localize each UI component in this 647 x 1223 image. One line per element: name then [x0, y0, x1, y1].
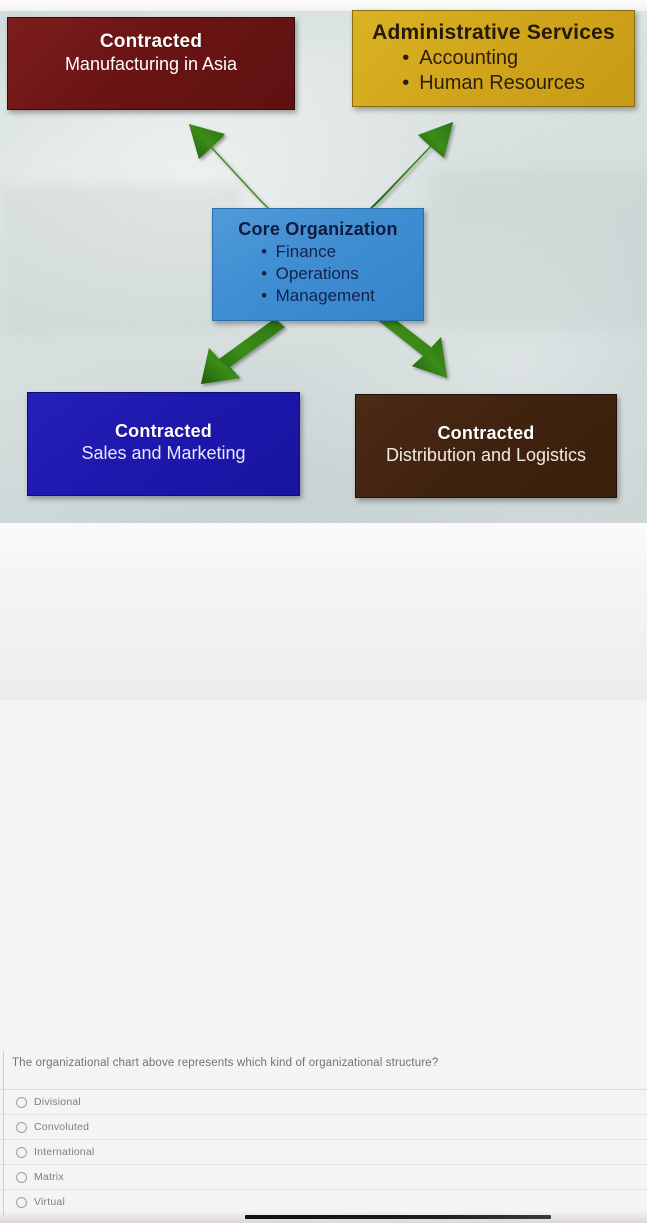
radio-icon[interactable] — [16, 1147, 27, 1158]
question-area: The organizational chart above represent… — [0, 523, 647, 700]
node-subtitle: Manufacturing in Asia — [8, 53, 294, 76]
node-subtitle: Sales and Marketing — [28, 442, 299, 465]
radio-icon[interactable] — [16, 1122, 27, 1133]
node-contracted-manufacturing: Contracted Manufacturing in Asia — [7, 17, 295, 110]
answer-option-label: Matrix — [34, 1171, 64, 1183]
node-subtitle: Distribution and Logistics — [356, 444, 616, 467]
page-root: Contracted Manufacturing in Asia Adminis… — [0, 0, 647, 700]
node-contracted-sales-marketing: Contracted Sales and Marketing — [27, 392, 300, 496]
node-core-organization: Core Organization Finance Operations Man… — [212, 208, 424, 321]
node-contracted-distribution-logistics: Contracted Distribution and Logistics — [355, 394, 617, 498]
arrow-core-to-sales — [201, 316, 285, 384]
node-title: Administrative Services — [353, 20, 634, 46]
node-bullet-list: Accounting Human Resources — [402, 46, 585, 96]
answer-option-divisional[interactable]: Divisional — [0, 1089, 647, 1114]
answer-option-international[interactable]: International — [0, 1139, 647, 1164]
node-title: Core Organization — [213, 218, 423, 241]
node-bullet-list: Finance Operations Management — [261, 241, 375, 307]
bullet-item: Management — [261, 285, 375, 307]
answer-option-label: Divisional — [34, 1096, 81, 1108]
answer-option-label: Virtual — [34, 1196, 65, 1208]
node-title: Contracted — [8, 31, 294, 53]
org-chart-photo: Contracted Manufacturing in Asia Adminis… — [0, 0, 647, 523]
bullet-item: Finance — [261, 241, 375, 263]
node-administrative-services: Administrative Services Accounting Human… — [352, 10, 635, 107]
radio-icon[interactable] — [16, 1097, 27, 1108]
bullet-item: Operations — [261, 263, 375, 285]
question-prompt: The organizational chart above represent… — [12, 1056, 612, 1071]
answer-option-list: Divisional Convoluted International Matr… — [0, 1089, 647, 1214]
node-title: Contracted — [356, 422, 616, 444]
bottom-dark-bar — [245, 1215, 551, 1219]
arrow-core-to-admin — [364, 122, 453, 214]
answer-option-label: International — [34, 1146, 94, 1158]
bullet-item: Human Resources — [402, 71, 585, 96]
node-title: Contracted — [28, 420, 299, 442]
answer-option-convoluted[interactable]: Convoluted — [0, 1114, 647, 1139]
bullet-item: Accounting — [402, 46, 585, 71]
radio-icon[interactable] — [16, 1172, 27, 1183]
radio-icon[interactable] — [16, 1197, 27, 1208]
answer-option-label: Convoluted — [34, 1121, 89, 1133]
arrow-core-to-manufacturing — [189, 124, 277, 216]
answer-option-matrix[interactable]: Matrix — [0, 1164, 647, 1189]
